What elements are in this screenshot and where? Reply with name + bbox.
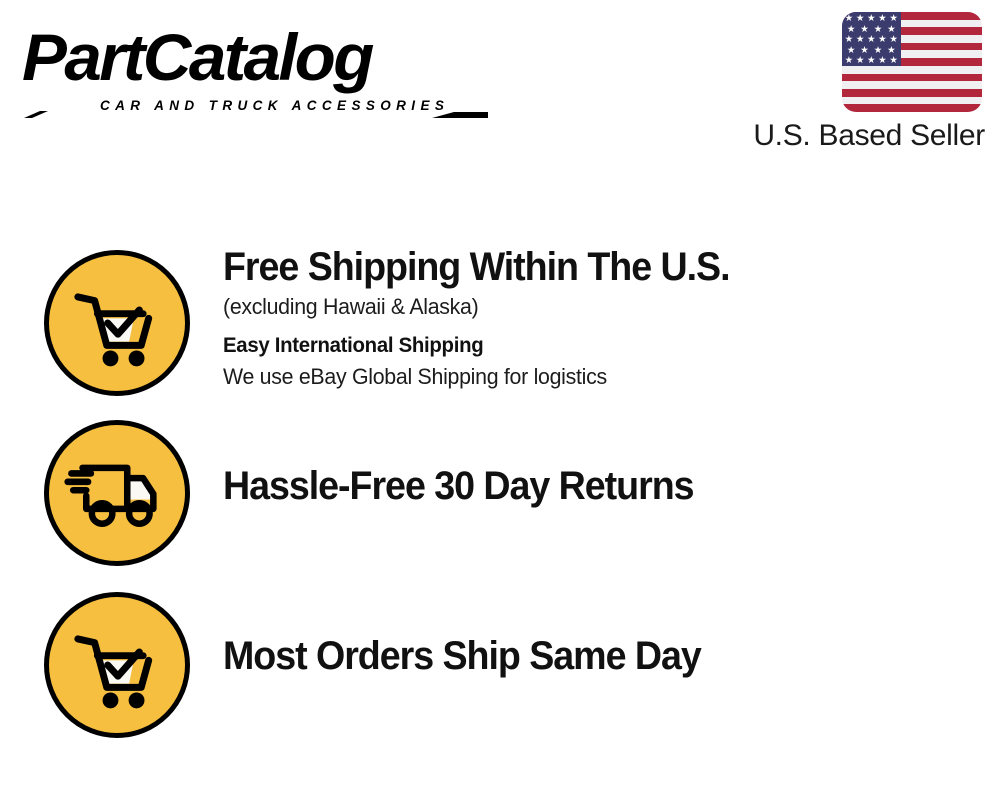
- feature-list: Free Shipping Within The U.S. (excluding…: [0, 0, 1000, 800]
- feature-text-block: Most Orders Ship Same Day: [223, 632, 1000, 680]
- feature-subtitle: Easy International Shipping: [223, 331, 999, 361]
- promo-banner: PartCatalog CAR AND TRUCK ACCESSORIES ★★…: [0, 0, 1000, 800]
- feature-text-block: Hassle-Free 30 Day Returns: [223, 462, 1000, 510]
- feature-title: Free Shipping Within The U.S.: [223, 243, 975, 291]
- feature-text-block: Free Shipping Within The U.S. (excluding…: [223, 243, 1000, 392]
- shopping-cart-check-icon: [44, 250, 190, 396]
- feature-note: (excluding Hawaii & Alaska): [223, 291, 999, 322]
- feature-title: Hassle-Free 30 Day Returns: [223, 462, 975, 510]
- shopping-cart-check-icon: [44, 592, 190, 738]
- feature-title: Most Orders Ship Same Day: [223, 632, 975, 680]
- feature-subtext: We use eBay Global Shipping for logistic…: [223, 361, 999, 392]
- delivery-truck-icon: [44, 420, 190, 566]
